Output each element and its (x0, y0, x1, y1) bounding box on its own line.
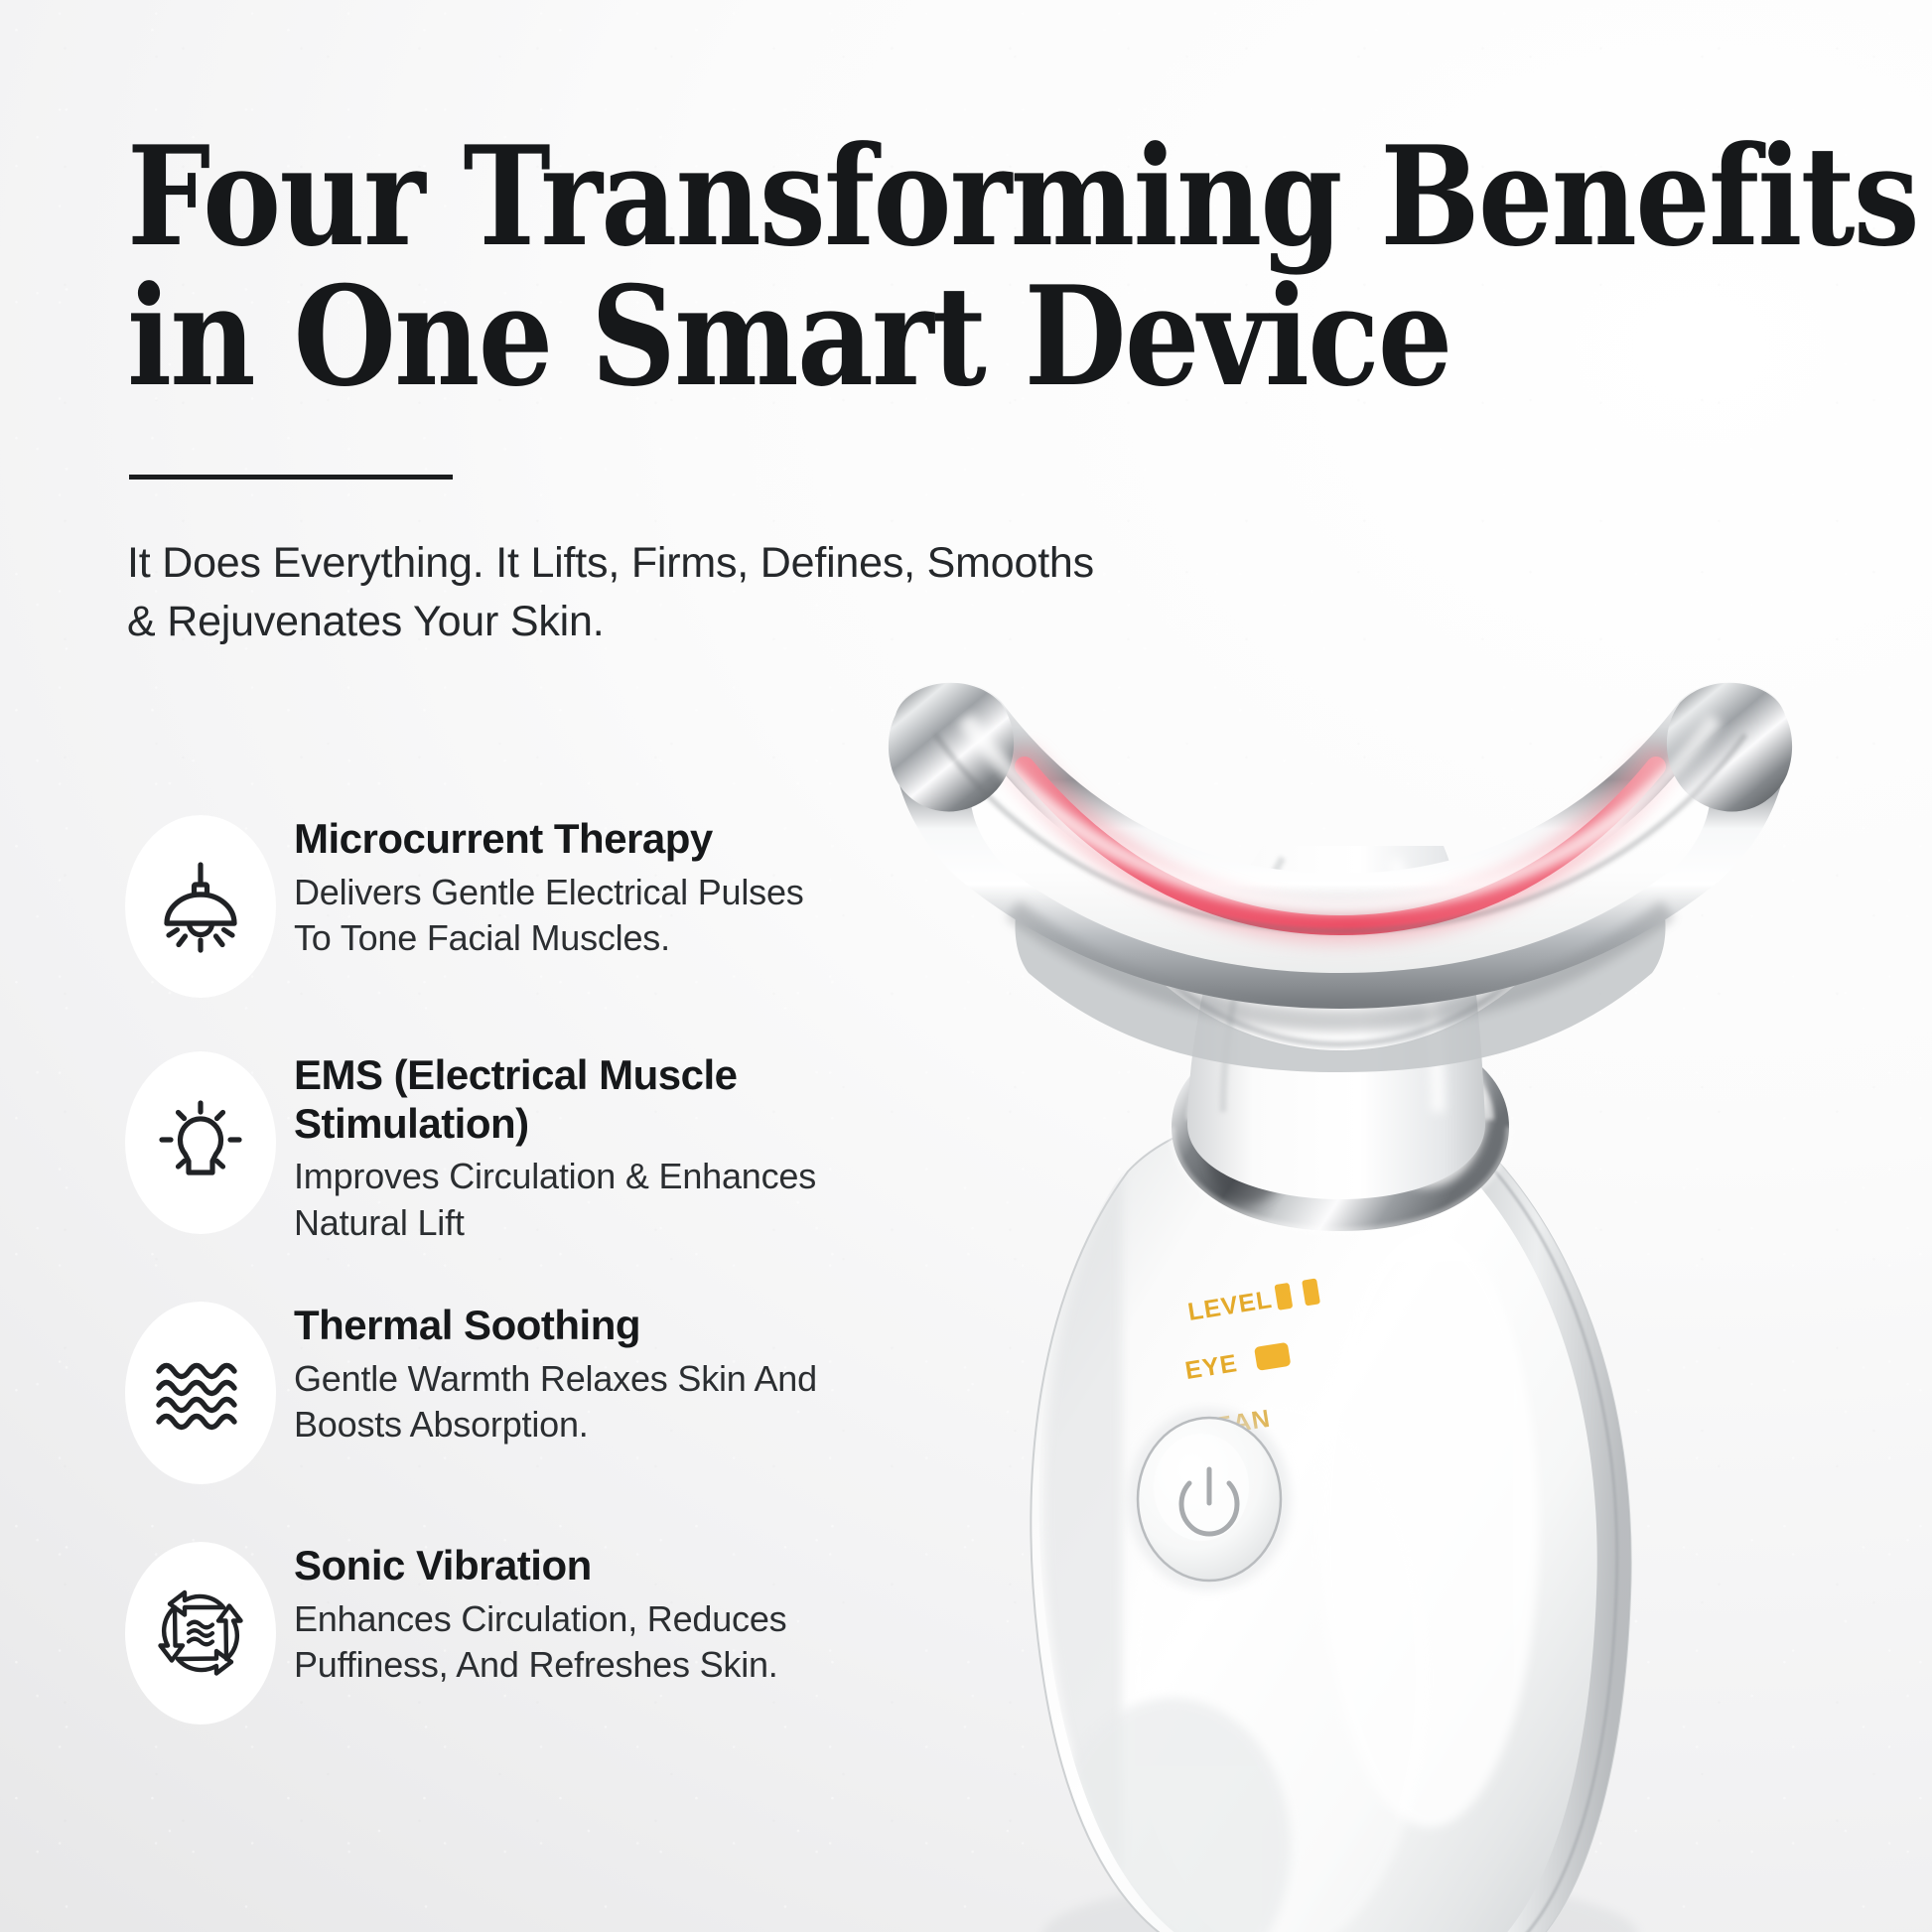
benefit-desc-line-2: Boosts Absorption. (294, 1404, 589, 1445)
display-label-hot: HOT (1172, 1532, 1230, 1568)
benefit-icon-badge (125, 1542, 276, 1725)
headline-line-2: in One Smart Device (127, 267, 1391, 407)
benefit-text-block: EMS (Electrical Muscle Stimulation) Impr… (294, 1045, 919, 1246)
benefits-list: Microcurrent Therapy Delivers Gentle Ele… (125, 809, 919, 1725)
benefit-icon-badge (125, 1302, 276, 1484)
benefit-item-thermal-soothing: Thermal Soothing Gentle Warmth Relaxes S… (125, 1296, 919, 1484)
device-chrome-collar (1172, 1023, 1509, 1231)
subheadline-line-2: & Rejuvenates Your Skin. (127, 593, 1160, 651)
benefit-desc-line-2: Natural Lift (294, 1202, 465, 1243)
benefit-title-line-2: Stimulation) (294, 1100, 529, 1147)
display-label-level: LEVEL (1186, 1286, 1275, 1326)
device-head (889, 681, 1792, 1072)
display-row-level: LEVEL (1186, 1278, 1321, 1325)
benefit-title: Microcurrent Therapy (294, 815, 919, 864)
headline-line-1: Four Transforming Benefits (127, 127, 1391, 267)
lightbulb-icon (149, 1091, 252, 1194)
subheadline: It Does Everything. It Lifts, Firms, Def… (127, 534, 1160, 652)
benefit-description: Enhances Circulation, Reduces Puffiness,… (294, 1596, 919, 1688)
benefit-desc-line-1: Gentle Warmth Relaxes Skin And (294, 1358, 817, 1399)
benefit-description: Delivers Gentle Electrical Pulses To Ton… (294, 870, 919, 961)
power-icon (1181, 1469, 1237, 1534)
display-row-eye: EYE (1183, 1341, 1292, 1385)
led-light-strip (1025, 766, 1656, 925)
circular-arrows-waves-icon (149, 1582, 252, 1685)
infographic-poster: Four Transforming Benefits in One Smart … (0, 0, 1932, 1932)
benefit-desc-line-2: To Tone Facial Muscles. (294, 917, 670, 958)
benefit-title: Sonic Vibration (294, 1542, 919, 1590)
benefit-icon-badge (125, 1051, 276, 1234)
benefit-text-block: Thermal Soothing Gentle Warmth Relaxes S… (294, 1296, 919, 1448)
benefit-title: EMS (Electrical Muscle Stimulation) (294, 1051, 919, 1148)
benefit-desc-line-1: Delivers Gentle Electrical Pulses (294, 872, 804, 912)
subheadline-line-1: It Does Everything. It Lifts, Firms, Def… (127, 534, 1160, 593)
title-divider-rule (129, 475, 453, 480)
heat-waves-icon (149, 1341, 252, 1445)
eye-indicator-block (1254, 1342, 1291, 1371)
benefit-item-ems: EMS (Electrical Muscle Stimulation) Impr… (125, 1045, 919, 1256)
benefit-desc-line-1: Improves Circulation & Enhances (294, 1156, 816, 1196)
power-button[interactable] (1128, 1408, 1291, 1590)
benefit-text-block: Sonic Vibration Enhances Circulation, Re… (294, 1536, 919, 1688)
product-device-image: LEVEL EYE CLEAN EMS (874, 675, 1932, 1932)
benefit-desc-line-1: Enhances Circulation, Reduces (294, 1598, 786, 1639)
device-neck (1187, 846, 1485, 1199)
level-indicator-bars (1274, 1278, 1320, 1310)
display-label-ems: EMS (1176, 1470, 1237, 1507)
benefit-item-sonic-vibration: Sonic Vibration Enhances Circulation, Re… (125, 1536, 919, 1725)
benefit-description: Improves Circulation & Enhances Natural … (294, 1154, 919, 1245)
device-display-panel: LEVEL EYE CLEAN EMS (1135, 1278, 1357, 1568)
benefit-icon-badge (125, 815, 276, 998)
benefit-desc-line-2: Puffiness, And Refreshes Skin. (294, 1644, 778, 1685)
pendant-lamp-icon (149, 855, 252, 958)
benefit-item-microcurrent-therapy: Microcurrent Therapy Delivers Gentle Ele… (125, 809, 919, 998)
page-title: Four Transforming Benefits in One Smart … (127, 127, 1391, 407)
benefit-title-line-1: EMS (Electrical Muscle (294, 1051, 738, 1098)
benefit-description: Gentle Warmth Relaxes Skin And Boosts Ab… (294, 1356, 919, 1448)
benefit-text-block: Microcurrent Therapy Delivers Gentle Ele… (294, 809, 919, 961)
display-label-eye: EYE (1183, 1349, 1240, 1385)
benefit-title: Thermal Soothing (294, 1302, 919, 1350)
display-label-clean: CLEAN (1178, 1405, 1272, 1447)
device-body: LEVEL EYE CLEAN EMS (1031, 1106, 1638, 1932)
